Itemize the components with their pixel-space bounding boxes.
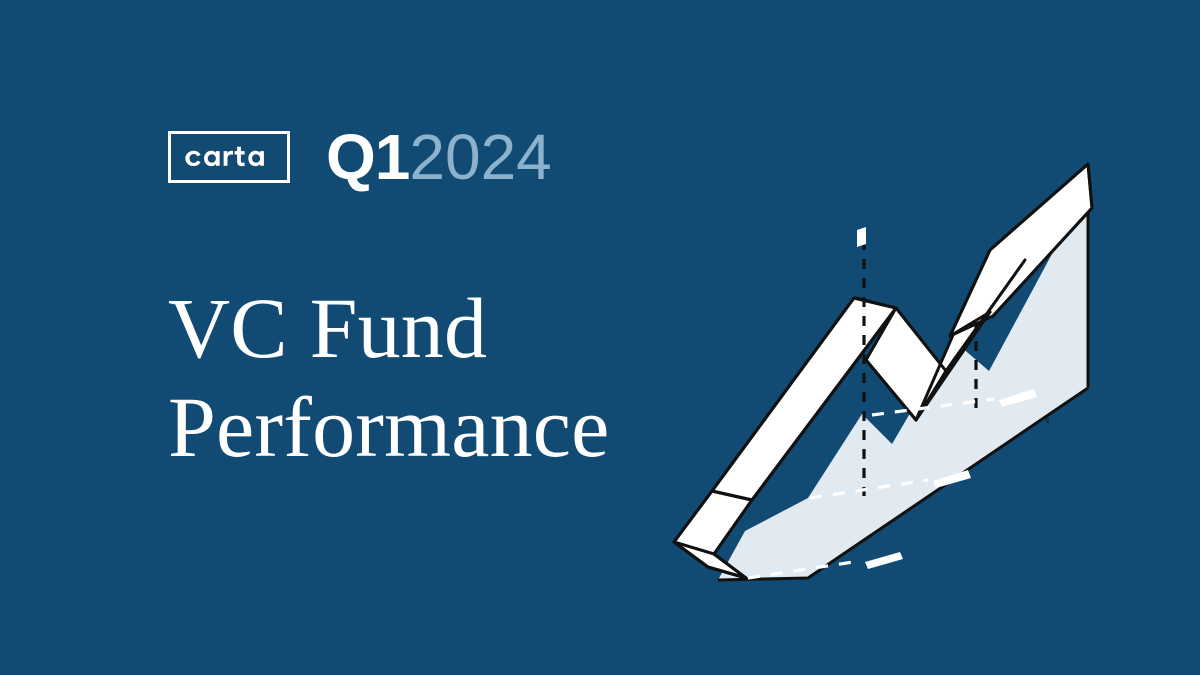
carta-wordmark-icon xyxy=(183,144,275,170)
poster-canvas: Q1 2024 VC Fund Performance xyxy=(0,0,1200,675)
speck-dot xyxy=(1046,418,1049,423)
isometric-line-chart-illustration xyxy=(660,150,1200,630)
quarter-label: Q1 xyxy=(326,125,409,189)
carta-logo xyxy=(168,131,290,183)
brand-row: Q1 2024 xyxy=(168,125,552,189)
chart-drop-line-tick-top xyxy=(857,227,866,247)
quarter-year-label: Q1 2024 xyxy=(326,125,552,189)
year-label: 2024 xyxy=(409,125,551,189)
